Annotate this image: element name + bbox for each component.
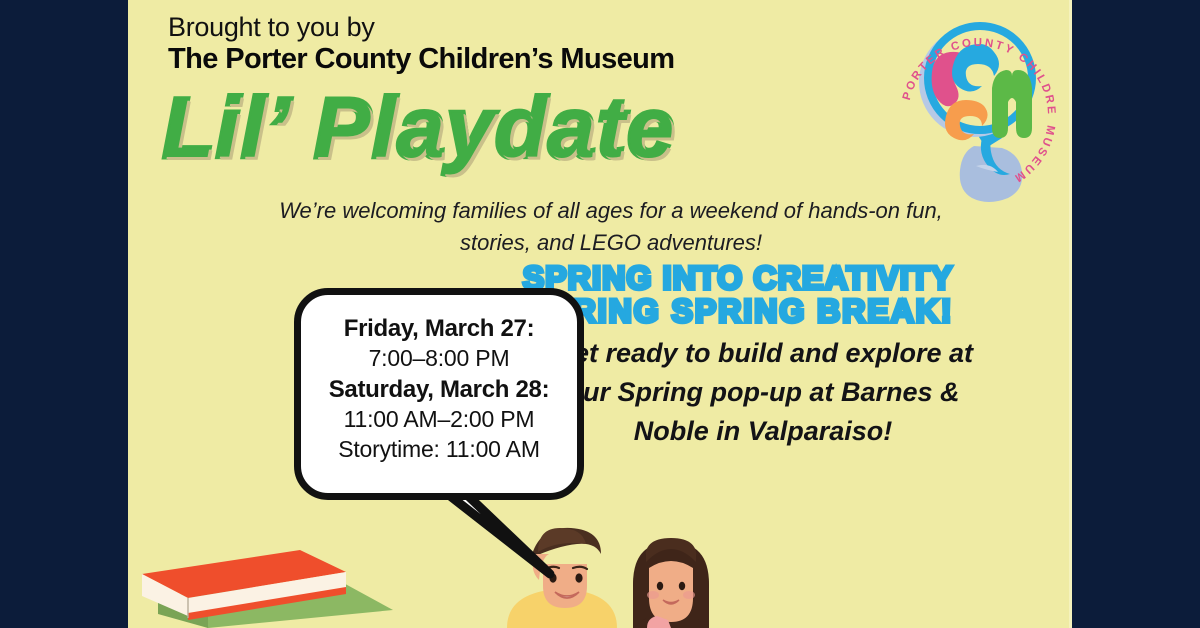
page-title: Lil’ Playdate — [163, 80, 676, 177]
headline-line-1: SPRING INTO CREATIVITY — [523, 260, 954, 296]
body-copy: Get ready to build and explore at our Sp… — [508, 334, 1018, 451]
body-line-3: Noble in Valparaiso! — [634, 416, 893, 446]
left-letterbox-bar — [0, 0, 128, 628]
book-stack-illustration — [128, 518, 418, 628]
body-line-2: our Spring pop-up at Barnes & — [566, 377, 959, 407]
kicker-text: Brought to you by — [168, 12, 375, 42]
schedule-day2-label: Saturday, March 28: — [301, 374, 577, 405]
body-line-1: Get ready to build and explore at — [553, 338, 973, 368]
intro-line-2: stories, and LEGO adventures! — [460, 230, 762, 255]
schedule-day1-label: Friday, March 27: — [301, 313, 577, 344]
intro-paragraph: We’re welcoming families of all ages for… — [206, 195, 1016, 259]
hand-icon — [960, 136, 1022, 202]
right-letterbox-bar — [1072, 0, 1200, 628]
schedule-day2-time: 11:00 AM–2:00 PM — [301, 405, 577, 435]
intro-line-1: We’re welcoming families of all ages for… — [279, 198, 943, 223]
schedule-speech-bubble: Friday, March 27: 7:00–8:00 PM Saturday,… — [294, 288, 584, 500]
schedule-day1-time: 7:00–8:00 PM — [301, 344, 577, 374]
schedule-list: Friday, March 27: 7:00–8:00 PM Saturday,… — [301, 295, 577, 465]
poster-content-area: Brought to you by The Porter County Chil… — [128, 0, 1072, 628]
pccm-logo: PORTER COUNTY CHILDREN’S MUSEUM — [888, 8, 1068, 203]
schedule-day2-extra: Storytime: 11:00 AM — [301, 435, 577, 465]
poster-canvas: Brought to you by The Porter County Chil… — [0, 0, 1200, 628]
girl-figure — [633, 538, 709, 628]
organization-name: The Porter County Children’s Museum — [168, 43, 674, 75]
